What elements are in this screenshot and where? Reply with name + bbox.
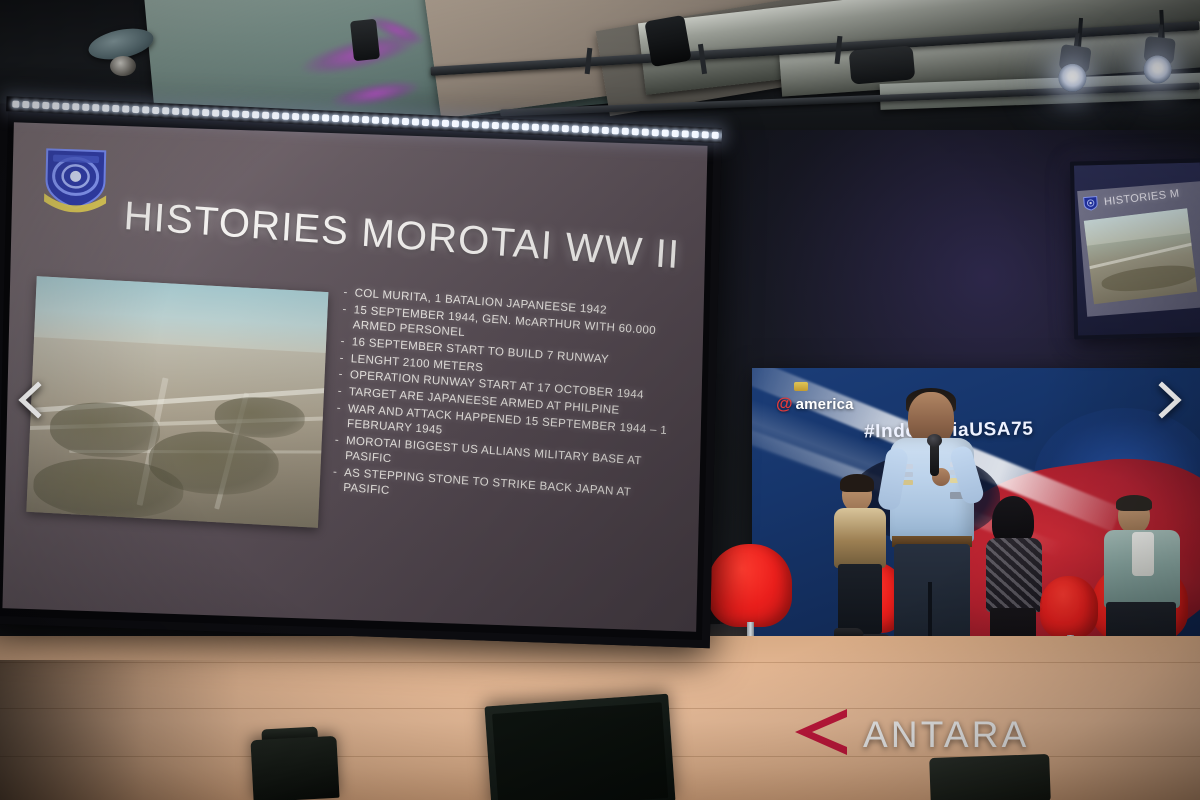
bullet-marker: - bbox=[339, 351, 344, 367]
led-dot bbox=[132, 106, 139, 113]
slide-title: HISTORIES MOROTAI WW II bbox=[123, 194, 682, 278]
foreground-camera bbox=[250, 736, 339, 800]
projection-screen: HISTORIES MOROTAI WW II -COL MURITA, 1 B… bbox=[0, 104, 722, 648]
led-dot bbox=[52, 102, 59, 109]
foreground-monitor bbox=[484, 694, 675, 800]
chair-seatback bbox=[708, 544, 792, 627]
banner-star-icon bbox=[794, 382, 808, 391]
led-dot bbox=[102, 105, 109, 112]
bullet-marker: - bbox=[338, 368, 343, 384]
led-dot bbox=[142, 106, 149, 113]
led-dot bbox=[72, 103, 79, 110]
led-dot bbox=[342, 115, 349, 122]
secondary-display: HISTORIES M bbox=[1070, 158, 1200, 339]
bullet-marker: - bbox=[342, 302, 347, 318]
led-dot bbox=[532, 124, 539, 131]
led-dot bbox=[92, 104, 99, 111]
bullet-marker: - bbox=[337, 385, 342, 401]
bullet-marker: - bbox=[343, 286, 348, 302]
handheld-microphone bbox=[930, 442, 939, 476]
led-dot bbox=[482, 121, 489, 128]
led-dot bbox=[222, 110, 229, 117]
led-dot bbox=[322, 114, 329, 121]
led-dot bbox=[612, 127, 619, 134]
air-force-shield-emblem bbox=[1082, 195, 1100, 211]
led-dot bbox=[382, 117, 389, 124]
led-dot bbox=[22, 101, 29, 108]
bullet-marker: - bbox=[336, 401, 341, 417]
led-dot bbox=[552, 125, 559, 132]
led-dot bbox=[492, 122, 499, 129]
led-dot bbox=[582, 126, 589, 133]
led-dot bbox=[362, 116, 369, 123]
led-dot bbox=[622, 128, 629, 135]
led-dot bbox=[472, 121, 479, 128]
led-dot bbox=[122, 105, 129, 112]
led-dot bbox=[312, 114, 319, 121]
led-dot bbox=[502, 122, 509, 129]
led-dot bbox=[652, 129, 659, 136]
led-dot bbox=[672, 130, 679, 137]
led-dot bbox=[512, 123, 519, 130]
led-dot bbox=[262, 112, 269, 119]
foreground-equipment-case bbox=[929, 754, 1051, 800]
led-dot bbox=[572, 125, 579, 132]
led-dot bbox=[272, 112, 279, 119]
led-dot bbox=[592, 126, 599, 133]
led-dot bbox=[232, 110, 239, 117]
led-dot bbox=[162, 107, 169, 114]
audience-hair bbox=[1116, 495, 1152, 511]
led-dot bbox=[682, 130, 689, 137]
bullet-marker: - bbox=[334, 433, 339, 449]
ceiling-light-can bbox=[110, 56, 136, 76]
slide-bullet-list: -COL MURITA, 1 BATALION JAPANEESE 1942-1… bbox=[332, 286, 692, 522]
next-image-button[interactable] bbox=[1146, 377, 1192, 423]
monitor-screen-surface bbox=[492, 702, 668, 800]
led-dot bbox=[212, 109, 219, 116]
foreground-shadow bbox=[0, 660, 240, 800]
chevron-left-icon bbox=[8, 377, 54, 423]
led-dot bbox=[302, 113, 309, 120]
led-dot bbox=[352, 116, 359, 123]
led-dot bbox=[42, 102, 49, 109]
at-america-logo: @ america bbox=[776, 394, 854, 414]
photo-viewer-stage: @ america #IndonesiaUSA75 bbox=[0, 0, 1200, 800]
monitor-title: HISTORIES M bbox=[1103, 188, 1180, 209]
stage-light-housing bbox=[849, 45, 916, 84]
led-dot bbox=[282, 113, 289, 120]
led-dot bbox=[182, 108, 189, 115]
led-dot bbox=[542, 124, 549, 131]
bullet-marker: - bbox=[340, 334, 345, 350]
led-dot bbox=[332, 115, 339, 122]
monitor-aerial-photo bbox=[1084, 208, 1197, 304]
led-dot bbox=[202, 109, 209, 116]
led-dot bbox=[192, 109, 199, 116]
led-dot bbox=[392, 117, 399, 124]
america-wordmark: america bbox=[796, 396, 854, 413]
ceiling-box bbox=[350, 19, 380, 61]
led-dot bbox=[152, 107, 159, 114]
led-dot bbox=[372, 117, 379, 124]
led-dot bbox=[662, 129, 669, 136]
audience-shirt bbox=[1132, 532, 1154, 576]
led-dot bbox=[402, 118, 409, 125]
audience-hair bbox=[840, 474, 874, 492]
led-dot bbox=[562, 125, 569, 132]
led-dot bbox=[442, 120, 449, 127]
led-dot bbox=[692, 131, 699, 138]
led-dot bbox=[632, 128, 639, 135]
led-dot bbox=[112, 105, 119, 112]
prev-image-button[interactable] bbox=[8, 377, 54, 423]
at-symbol-icon: @ bbox=[776, 394, 793, 414]
led-dot bbox=[292, 113, 299, 120]
led-dot bbox=[712, 132, 719, 139]
led-dot bbox=[252, 111, 259, 118]
led-dot bbox=[702, 131, 709, 138]
ceiling-rigging-box bbox=[644, 15, 691, 67]
monitor-slide-mirror: HISTORIES M bbox=[1077, 181, 1200, 317]
led-dot bbox=[172, 108, 179, 115]
led-dot bbox=[412, 118, 419, 125]
led-dot bbox=[12, 101, 19, 108]
audience-legs bbox=[838, 564, 882, 634]
led-dot bbox=[602, 127, 609, 134]
led-dot bbox=[432, 119, 439, 126]
led-dot bbox=[422, 119, 429, 126]
slide-aerial-photo bbox=[26, 276, 328, 528]
led-dot bbox=[452, 120, 459, 127]
led-dot bbox=[462, 121, 469, 128]
led-dot bbox=[642, 129, 649, 136]
photo-sea bbox=[1084, 208, 1190, 246]
led-dot bbox=[522, 123, 529, 130]
microphone-head bbox=[927, 434, 942, 447]
vegetation bbox=[49, 400, 161, 460]
air-force-shield-emblem bbox=[38, 145, 114, 213]
led-dot bbox=[32, 101, 39, 108]
presentation-slide: HISTORIES MOROTAI WW II -COL MURITA, 1 B… bbox=[2, 122, 707, 631]
led-dot bbox=[62, 103, 69, 110]
vegetation bbox=[1100, 261, 1197, 295]
bullet-marker: - bbox=[333, 465, 338, 481]
photo-sea bbox=[34, 276, 328, 353]
chevron-right-icon bbox=[1146, 377, 1192, 423]
chair-seatback bbox=[1040, 576, 1098, 638]
audience-torso bbox=[834, 508, 886, 568]
led-dot bbox=[82, 104, 89, 111]
led-dot bbox=[242, 111, 249, 118]
